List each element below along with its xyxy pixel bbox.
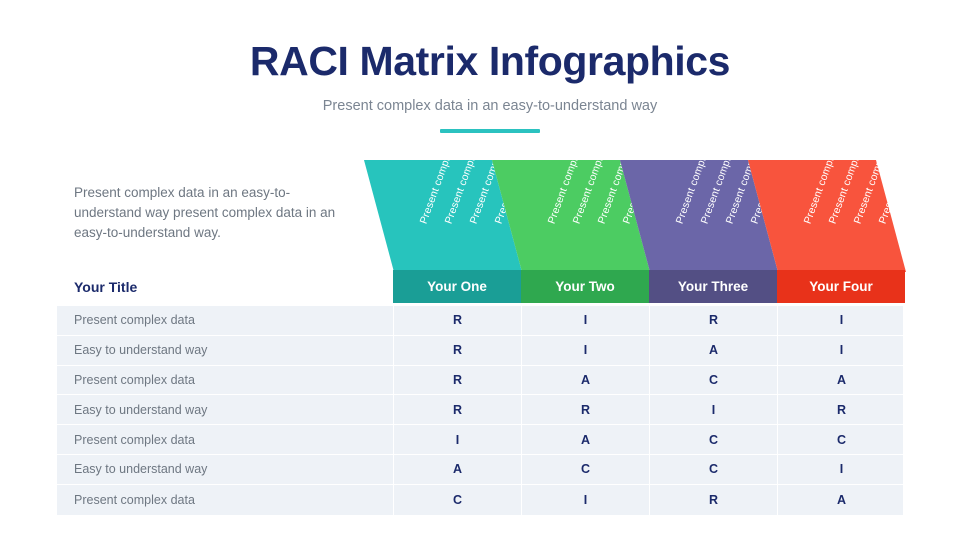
matrix-cell: R xyxy=(393,395,521,424)
block-label: Present complex xyxy=(595,206,612,225)
block-label: Present complex xyxy=(673,206,690,225)
matrix-cell: I xyxy=(521,485,649,515)
row-label: Easy to understand way xyxy=(57,455,393,484)
block-label: Present complex xyxy=(723,206,740,225)
table-row[interactable]: Present complex data I A C C xyxy=(57,425,903,455)
matrix-cell: A xyxy=(521,425,649,454)
matrix-cell: A xyxy=(649,336,777,365)
matrix-cell: I xyxy=(777,306,905,335)
matrix-cell: I xyxy=(521,336,649,365)
block-label: Present complex xyxy=(442,206,459,225)
matrix-cell: C xyxy=(649,425,777,454)
page-title: RACI Matrix Infographics xyxy=(0,38,980,85)
block-label: Present complex xyxy=(801,206,818,225)
column-header-two[interactable]: Your Two xyxy=(521,270,649,303)
row-label: Present complex data xyxy=(57,425,393,454)
row-header-title: Your Title xyxy=(57,270,393,303)
block-label: Present complex xyxy=(826,206,843,225)
matrix-table-body: Present complex data R I R I Easy to und… xyxy=(57,306,903,515)
matrix-cell: A xyxy=(521,366,649,395)
matrix-cell: C xyxy=(777,425,905,454)
block-label: Present complex xyxy=(851,206,868,225)
slide-canvas: RACI Matrix Infographics Present complex… xyxy=(0,0,980,551)
matrix-cell: R xyxy=(649,306,777,335)
column-header-four[interactable]: Your Four xyxy=(777,270,905,303)
block-label: Present complex xyxy=(698,206,715,225)
matrix-cell: C xyxy=(649,366,777,395)
matrix-cell: I xyxy=(393,425,521,454)
table-header-row: Your Title Your One Your Two Your Three … xyxy=(57,270,903,303)
row-label: Easy to understand way xyxy=(57,395,393,424)
table-row[interactable]: Present complex data R A C A xyxy=(57,366,903,396)
row-label: Easy to understand way xyxy=(57,336,393,365)
table-row[interactable]: Easy to understand way R R I R xyxy=(57,395,903,425)
column-blocks: Present complex Present complex Present … xyxy=(0,160,980,272)
matrix-cell: R xyxy=(649,485,777,515)
table-row[interactable]: Easy to understand way R I A I xyxy=(57,336,903,366)
row-label: Present complex data xyxy=(57,485,393,515)
column-header-three[interactable]: Your Three xyxy=(649,270,777,303)
matrix-cell: C xyxy=(393,485,521,515)
table-row[interactable]: Present complex data R I R I xyxy=(57,306,903,336)
column-header-one[interactable]: Your One xyxy=(393,270,521,303)
block-label: Present complex xyxy=(417,206,434,225)
matrix-cell: I xyxy=(777,455,905,484)
matrix-cell: A xyxy=(777,366,905,395)
page-subtitle: Present complex data in an easy-to-under… xyxy=(0,98,980,114)
matrix-cell: R xyxy=(393,306,521,335)
table-row[interactable]: Easy to understand way A C C I xyxy=(57,455,903,485)
matrix-cell: C xyxy=(649,455,777,484)
matrix-cell: I xyxy=(777,336,905,365)
column-block-four-labels: Present complex Present complex Present … xyxy=(778,160,906,272)
block-label: Present complex xyxy=(545,206,562,225)
matrix-cell: I xyxy=(649,395,777,424)
matrix-cell: A xyxy=(393,455,521,484)
matrix-cell: R xyxy=(393,366,521,395)
matrix-cell: C xyxy=(521,455,649,484)
matrix-cell: R xyxy=(521,395,649,424)
accent-divider xyxy=(440,129,540,133)
table-row[interactable]: Present complex data C I R A xyxy=(57,485,903,515)
matrix-cell: R xyxy=(777,395,905,424)
row-label: Present complex data xyxy=(57,306,393,335)
matrix-cell: I xyxy=(521,306,649,335)
block-label: Present complex xyxy=(876,206,893,225)
block-label: Present complex xyxy=(467,206,484,225)
block-label: Present complex xyxy=(570,206,587,225)
matrix-cell: A xyxy=(777,485,905,515)
row-label: Present complex data xyxy=(57,366,393,395)
matrix-cell: R xyxy=(393,336,521,365)
